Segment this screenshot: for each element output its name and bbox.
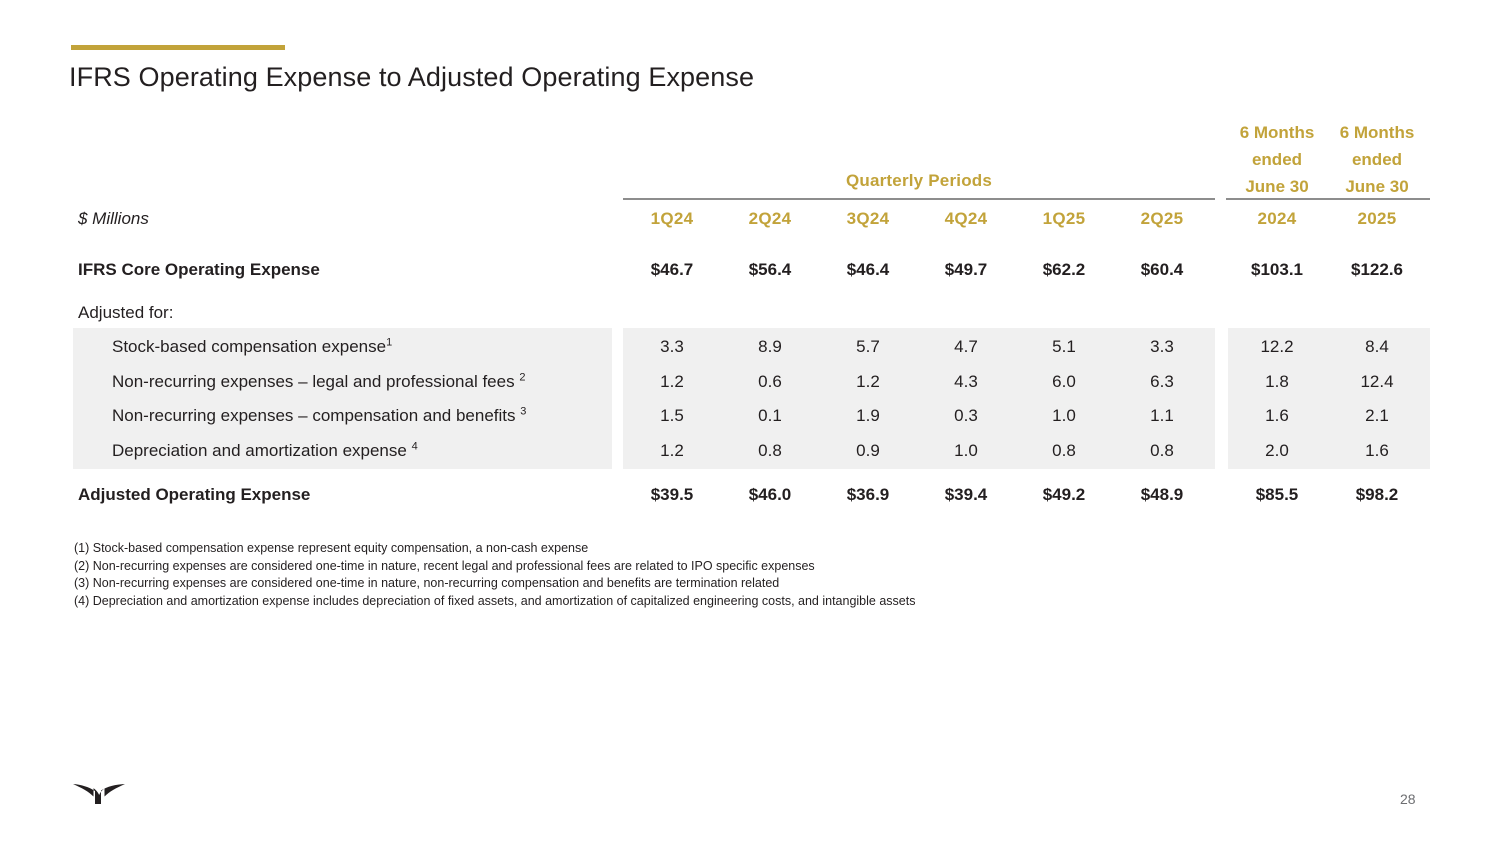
group-header-quarterly: Quarterly Periods <box>624 171 1214 191</box>
units-label: $ Millions <box>78 209 149 229</box>
company-wings-logo <box>71 778 127 808</box>
footnote-ref-2: 2 <box>519 371 525 383</box>
cell-da-2q25: 0.8 <box>1114 441 1210 461</box>
cell-comp-1q24: 1.5 <box>624 406 720 426</box>
cell-total-4q24: $39.4 <box>918 485 1014 505</box>
footnote-ref-3: 3 <box>520 405 526 417</box>
group-header-line-1: 6 Months <box>1228 119 1326 146</box>
cell-comp-3q24: 1.9 <box>820 406 916 426</box>
column-header-1q25: 1Q25 <box>1016 209 1112 229</box>
column-header-2q24: 2Q24 <box>722 209 818 229</box>
row-label-ifrs-core-operating-expense: IFRS Core Operating Expense <box>78 260 320 280</box>
cell-da-6m-2024: 2.0 <box>1228 441 1326 461</box>
row-label-text: Non-recurring expenses – legal and profe… <box>112 372 515 391</box>
group-header-line-3: June 30 <box>1328 173 1426 200</box>
row-label-nonrecurring-compensation-benefits: Non-recurring expenses – compensation an… <box>112 406 526 426</box>
cell-da-4q24: 1.0 <box>918 441 1014 461</box>
cell-legal-1q25: 6.0 <box>1016 372 1112 392</box>
cell-total-1q24: $39.5 <box>624 485 720 505</box>
cell-comp-2q24: 0.1 <box>722 406 818 426</box>
cell-sbc-1q25: 5.1 <box>1016 337 1112 357</box>
title-accent-bar <box>71 45 285 50</box>
row-label-text: Stock-based compensation expense <box>112 337 386 356</box>
sixmonth-header-rule <box>1226 198 1430 200</box>
row-label-adjusted-for: Adjusted for: <box>78 303 173 323</box>
cell-total-6m-2025: $98.2 <box>1328 485 1426 505</box>
page-number: 28 <box>1400 791 1416 807</box>
cell-da-2q24: 0.8 <box>722 441 818 461</box>
cell-total-3q24: $36.9 <box>820 485 916 505</box>
cell-da-6m-2025: 1.6 <box>1328 441 1426 461</box>
footnote-ref-4: 4 <box>412 440 418 452</box>
group-header-six-months-2025: 6 Months ended June 30 <box>1328 119 1426 200</box>
group-header-line-1: 6 Months <box>1328 119 1426 146</box>
group-header-line-2: ended <box>1228 146 1326 173</box>
row-label-text: Non-recurring expenses – compensation an… <box>112 406 516 425</box>
cell-comp-6m-2024: 1.6 <box>1228 406 1326 426</box>
row-label-stock-based-compensation: Stock-based compensation expense1 <box>112 337 392 357</box>
footnote-2: (2) Non-recurring expenses are considere… <box>74 558 915 576</box>
footnotes-block: (1) Stock-based compensation expense rep… <box>74 540 915 610</box>
row-label-adjusted-operating-expense: Adjusted Operating Expense <box>78 485 310 505</box>
cell-legal-2q24: 0.6 <box>722 372 818 392</box>
row-label-nonrecurring-legal-professional: Non-recurring expenses – legal and profe… <box>112 372 525 392</box>
cell-legal-4q24: 4.3 <box>918 372 1014 392</box>
cell-sbc-3q24: 5.7 <box>820 337 916 357</box>
cell-legal-1q24: 1.2 <box>624 372 720 392</box>
cell-sbc-1q24: 3.3 <box>624 337 720 357</box>
cell-sbc-6m-2025: 8.4 <box>1328 337 1426 357</box>
group-header-six-months-2024: 6 Months ended June 30 <box>1228 119 1326 200</box>
cell-sbc-2q24: 8.9 <box>722 337 818 357</box>
footnote-4: (4) Depreciation and amortization expens… <box>74 593 915 611</box>
slide-canvas: IFRS Operating Expense to Adjusted Opera… <box>0 0 1500 844</box>
cell-legal-3q24: 1.2 <box>820 372 916 392</box>
cell-ifrs-3q24: $46.4 <box>820 260 916 280</box>
column-header-4q24: 4Q24 <box>918 209 1014 229</box>
cell-comp-2q25: 1.1 <box>1114 406 1210 426</box>
cell-da-1q24: 1.2 <box>624 441 720 461</box>
cell-comp-6m-2025: 2.1 <box>1328 406 1426 426</box>
footnote-ref-1: 1 <box>386 336 392 348</box>
cell-legal-6m-2024: 1.8 <box>1228 372 1326 392</box>
column-header-6m-2024: 2024 <box>1228 209 1326 229</box>
cell-ifrs-1q24: $46.7 <box>624 260 720 280</box>
footnote-1: (1) Stock-based compensation expense rep… <box>74 540 915 558</box>
cell-legal-6m-2025: 12.4 <box>1328 372 1426 392</box>
cell-total-2q24: $46.0 <box>722 485 818 505</box>
cell-sbc-4q24: 4.7 <box>918 337 1014 357</box>
cell-ifrs-6m-2025: $122.6 <box>1328 260 1426 280</box>
cell-comp-1q25: 1.0 <box>1016 406 1112 426</box>
group-header-line-2: ended <box>1328 146 1426 173</box>
cell-total-6m-2024: $85.5 <box>1228 485 1326 505</box>
cell-ifrs-2q25: $60.4 <box>1114 260 1210 280</box>
cell-sbc-2q25: 3.3 <box>1114 337 1210 357</box>
cell-da-1q25: 0.8 <box>1016 441 1112 461</box>
cell-total-2q25: $48.9 <box>1114 485 1210 505</box>
cell-ifrs-6m-2024: $103.1 <box>1228 260 1326 280</box>
cell-legal-2q25: 6.3 <box>1114 372 1210 392</box>
group-header-line-3: June 30 <box>1228 173 1326 200</box>
quarterly-header-rule <box>623 198 1215 200</box>
cell-comp-4q24: 0.3 <box>918 406 1014 426</box>
row-label-text: Depreciation and amortization expense <box>112 441 407 460</box>
column-header-2q25: 2Q25 <box>1114 209 1210 229</box>
cell-total-1q25: $49.2 <box>1016 485 1112 505</box>
page-title: IFRS Operating Expense to Adjusted Opera… <box>69 62 754 93</box>
row-label-depreciation-amortization: Depreciation and amortization expense 4 <box>112 441 418 461</box>
footnote-3: (3) Non-recurring expenses are considere… <box>74 575 915 593</box>
column-header-3q24: 3Q24 <box>820 209 916 229</box>
cell-sbc-6m-2024: 12.2 <box>1228 337 1326 357</box>
column-header-1q24: 1Q24 <box>624 209 720 229</box>
cell-da-3q24: 0.9 <box>820 441 916 461</box>
cell-ifrs-2q24: $56.4 <box>722 260 818 280</box>
cell-ifrs-1q25: $62.2 <box>1016 260 1112 280</box>
cell-ifrs-4q24: $49.7 <box>918 260 1014 280</box>
column-header-6m-2025: 2025 <box>1328 209 1426 229</box>
